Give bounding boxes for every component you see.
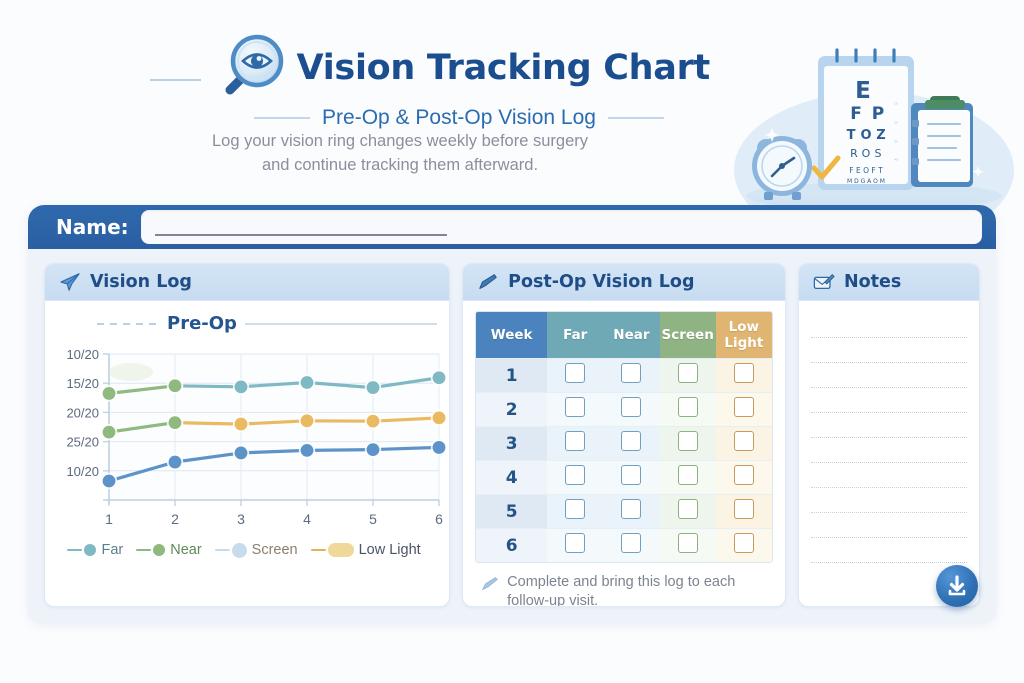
series-point-blue — [169, 456, 182, 469]
chart-legend: Far Near Screen Low — [51, 540, 437, 566]
checkbox-cell-far[interactable] — [547, 460, 603, 494]
note-line[interactable] — [811, 538, 967, 563]
y-tick-label: 10/20 — [66, 347, 99, 362]
series-point-blue — [301, 444, 314, 457]
legend-swatch-line — [67, 549, 82, 552]
pen-icon — [477, 272, 499, 292]
checkbox[interactable] — [565, 431, 585, 451]
name-write-line — [155, 234, 447, 236]
x-tick-label: 4 — [303, 511, 311, 527]
legend-label: Screen — [252, 542, 298, 558]
note-pen-icon — [813, 272, 835, 292]
checkbox-cell-low-light[interactable] — [716, 358, 772, 392]
postop-footer-note: Complete and bring this log to each foll… — [475, 563, 773, 607]
note-line[interactable] — [811, 363, 967, 388]
legend-item: Near — [136, 542, 201, 558]
legend-swatch-dot — [232, 543, 247, 558]
note-line[interactable] — [811, 438, 967, 463]
vision-log-panel: Vision Log Pre-Op 10/2015/2020/2025/2010… — [44, 263, 450, 607]
name-input[interactable] — [141, 210, 982, 244]
checkbox-cell-far[interactable] — [547, 392, 603, 426]
note-line[interactable] — [811, 463, 967, 488]
checkbox[interactable] — [565, 465, 585, 485]
checkbox-cell-low-light[interactable] — [716, 528, 772, 562]
checkbox-cell-far[interactable] — [547, 494, 603, 528]
checkbox-cell-low-light[interactable] — [716, 392, 772, 426]
postop-log-title: Post-Op Vision Log — [508, 272, 694, 292]
week-cell: 3 — [476, 426, 547, 460]
brush-icon — [481, 575, 499, 593]
legend-label: Near — [170, 542, 201, 558]
lead-paragraph: Log your vision ring changes weekly befo… — [110, 130, 690, 178]
series-point-near-low — [103, 426, 116, 439]
checkbox[interactable] — [678, 363, 698, 383]
table-row: 5 — [476, 494, 772, 528]
checkbox[interactable] — [734, 533, 754, 553]
checkbox-cell-screen[interactable] — [660, 392, 716, 426]
svg-text:₃₀: ₃₀ — [894, 138, 898, 144]
checkbox-cell-screen[interactable] — [660, 528, 716, 562]
note-line[interactable] — [811, 388, 967, 413]
legend-swatch-dot — [328, 543, 354, 557]
postop-footer-text: Complete and bring this log to each foll… — [507, 573, 769, 607]
series-point-blue — [103, 475, 116, 488]
hero-illustration: E F P T O Z R O S F E O F T M D G A O M … — [706, 18, 1016, 213]
notes-title: Notes — [844, 272, 901, 292]
checkbox-cell-far[interactable] — [547, 358, 603, 392]
checkbox-cell-near[interactable] — [603, 426, 659, 460]
postop-log-panel: Post-Op Vision Log Week Far Near Screen … — [462, 263, 786, 607]
eye-chart-row-3: T — [847, 128, 856, 143]
checkbox[interactable] — [734, 397, 754, 417]
series-point-near — [103, 387, 116, 400]
svg-text:O: O — [862, 147, 871, 160]
chart-rule-right — [245, 323, 437, 325]
table-row: 3 — [476, 426, 772, 460]
eye-chart-row-5: F E O F T — [849, 166, 883, 175]
legend-swatch-dot — [84, 544, 96, 556]
card-body: Vision Log Pre-Op 10/2015/2020/2025/2010… — [28, 249, 996, 623]
series-point-low-light — [235, 418, 248, 431]
note-line[interactable] — [811, 513, 967, 538]
title-row: Vision Tracking Chart — [150, 32, 710, 104]
checkbox[interactable] — [678, 397, 698, 417]
paper-plane-icon — [59, 272, 81, 292]
legend-label: Far — [101, 542, 123, 558]
checkbox-cell-far[interactable] — [547, 426, 603, 460]
checkbox-cell-screen[interactable] — [660, 426, 716, 460]
week-cell: 4 — [476, 460, 547, 494]
series-point-blue — [433, 441, 446, 454]
title-rule-left — [150, 79, 201, 81]
notes-lines-area[interactable] — [799, 301, 979, 606]
legend-item: Low Light — [311, 542, 421, 558]
x-tick-label: 6 — [435, 511, 443, 527]
series-point-far — [433, 371, 446, 384]
table-row: 1 — [476, 358, 772, 392]
week-cell: 6 — [476, 528, 547, 562]
series-point-low-light — [301, 414, 314, 427]
name-bar: Name: — [28, 205, 996, 249]
checkbox-cell-screen[interactable] — [660, 460, 716, 494]
checkbox[interactable] — [734, 499, 754, 519]
checkbox[interactable] — [621, 363, 641, 383]
series-point-low-light — [367, 415, 380, 428]
checkbox-cell-near[interactable] — [603, 460, 659, 494]
week-cell: 1 — [476, 358, 547, 392]
checkbox[interactable] — [734, 465, 754, 485]
y-tick-label: 20/20 — [66, 405, 99, 420]
checkbox-cell-far[interactable] — [547, 528, 603, 562]
main-card: Name: Vision Log Pre-Op 1 — [28, 205, 996, 623]
checkbox-cell-near[interactable] — [603, 358, 659, 392]
table-row: 4 — [476, 460, 772, 494]
checkbox[interactable] — [621, 533, 641, 553]
legend-swatch-line — [311, 549, 326, 552]
svg-text:₂₀: ₂₀ — [894, 119, 898, 125]
legend-item: Far — [67, 542, 123, 558]
x-tick-label: 2 — [171, 511, 179, 527]
note-line[interactable] — [811, 338, 967, 363]
y-tick-label: 15/20 — [66, 376, 99, 391]
note-line[interactable] — [811, 413, 967, 438]
page-subtitle: Pre-Op & Post-Op Vision Log — [322, 106, 596, 130]
checkbox[interactable] — [678, 533, 698, 553]
table-row: 6 — [476, 528, 772, 562]
download-icon — [945, 574, 969, 598]
series-point-far — [235, 380, 248, 393]
checkbox-cell-near[interactable] — [603, 392, 659, 426]
series-point-low-light — [433, 411, 446, 424]
checkbox[interactable] — [678, 465, 698, 485]
table-row: 2 — [476, 392, 772, 426]
legend-swatch-line — [215, 549, 230, 552]
legend-label: Low Light — [359, 542, 421, 558]
checkbox[interactable] — [565, 533, 585, 553]
svg-text:₁₀: ₁₀ — [894, 100, 898, 106]
note-line[interactable] — [811, 488, 967, 513]
th-far: Far — [547, 312, 603, 358]
x-tick-label: 5 — [369, 511, 377, 527]
svg-text:Z: Z — [876, 128, 885, 143]
series-point-blue — [235, 447, 248, 460]
y-tick-label: 10/20 — [66, 464, 99, 479]
checkbox[interactable] — [621, 431, 641, 451]
series-point-far — [367, 381, 380, 394]
postop-table-wrap: Week Far Near Screen Low Light 123456 Co… — [463, 301, 785, 607]
chart-title-row: Pre-Op — [51, 311, 437, 340]
checkbox[interactable] — [565, 499, 585, 519]
chart-canvas: 10/2015/2020/2025/2010/20123456 — [51, 340, 450, 540]
page-title: Vision Tracking Chart — [297, 48, 710, 88]
eye-chart-row-2: F — [850, 104, 862, 124]
checkbox[interactable] — [734, 431, 754, 451]
th-week: Week — [476, 312, 547, 358]
name-label: Name: — [56, 215, 129, 239]
magnifier-eye-icon — [215, 32, 287, 104]
checkbox-cell-screen[interactable] — [660, 358, 716, 392]
checkbox[interactable] — [621, 499, 641, 519]
series-point-far — [301, 376, 314, 389]
th-low-light: Low Light — [716, 312, 772, 358]
preop-chart: Pre-Op 10/2015/2020/2025/2010/20123456 F… — [45, 301, 449, 606]
lead-line-2: and continue tracking them afterward. — [110, 154, 690, 178]
legend-swatch-dot — [153, 544, 165, 556]
vision-log-title: Vision Log — [90, 272, 192, 292]
svg-text:P: P — [872, 104, 884, 124]
eye-chart-row-6: M D G A O M — [847, 178, 885, 185]
checkbox-cell-low-light[interactable] — [716, 494, 772, 528]
checkbox[interactable] — [621, 465, 641, 485]
legend-swatch-line — [136, 549, 151, 552]
checkbox[interactable] — [678, 431, 698, 451]
series-point-near — [169, 379, 182, 392]
eye-chart-row-4: R — [850, 147, 858, 160]
legend-item: Screen — [215, 542, 298, 558]
checkbox[interactable] — [621, 397, 641, 417]
checkbox-cell-near[interactable] — [603, 528, 659, 562]
th-near: Near — [603, 312, 659, 358]
download-button[interactable] — [936, 565, 978, 607]
checkbox[interactable] — [734, 363, 754, 383]
checkbox-cell-near[interactable] — [603, 494, 659, 528]
chart-title: Pre-Op — [167, 313, 237, 334]
series-point-blue — [367, 443, 380, 456]
postop-table: Week Far Near Screen Low Light 123456 — [475, 311, 773, 563]
lead-line-1: Log your vision ring changes weekly befo… — [110, 130, 690, 154]
svg-text:S: S — [875, 147, 882, 160]
vision-log-header: Vision Log — [45, 264, 449, 301]
subtitle-rule-left — [254, 117, 310, 119]
eye-chart-row-1: E — [855, 78, 871, 104]
table-header-row: Week Far Near Screen Low Light — [476, 312, 772, 358]
y-tick-label: 25/20 — [66, 435, 99, 450]
svg-text:O: O — [860, 128, 871, 143]
title-block: Vision Tracking Chart Pre-Op & Post-Op V… — [150, 32, 710, 130]
chart-rule-left — [97, 323, 159, 325]
series-point-near-low — [169, 416, 182, 429]
checkbox-cell-screen[interactable] — [660, 494, 716, 528]
page-header: Vision Tracking Chart Pre-Op & Post-Op V… — [0, 0, 1024, 205]
note-line[interactable] — [811, 313, 967, 338]
subtitle-row: Pre-Op & Post-Op Vision Log — [150, 106, 710, 130]
th-screen: Screen — [660, 312, 716, 358]
svg-text:₄₀: ₄₀ — [894, 156, 898, 162]
checkbox[interactable] — [565, 397, 585, 417]
week-cell: 5 — [476, 494, 547, 528]
checkbox-cell-low-light[interactable] — [716, 460, 772, 494]
week-cell: 2 — [476, 392, 547, 426]
postop-log-header: Post-Op Vision Log — [463, 264, 785, 301]
checkbox[interactable] — [565, 363, 585, 383]
checkbox-cell-low-light[interactable] — [716, 426, 772, 460]
subtitle-rule-right — [608, 117, 664, 119]
notes-panel: Notes — [798, 263, 980, 607]
checkbox[interactable] — [678, 499, 698, 519]
x-tick-label: 1 — [105, 511, 113, 527]
x-tick-label: 3 — [237, 511, 245, 527]
notes-header: Notes — [799, 264, 979, 301]
